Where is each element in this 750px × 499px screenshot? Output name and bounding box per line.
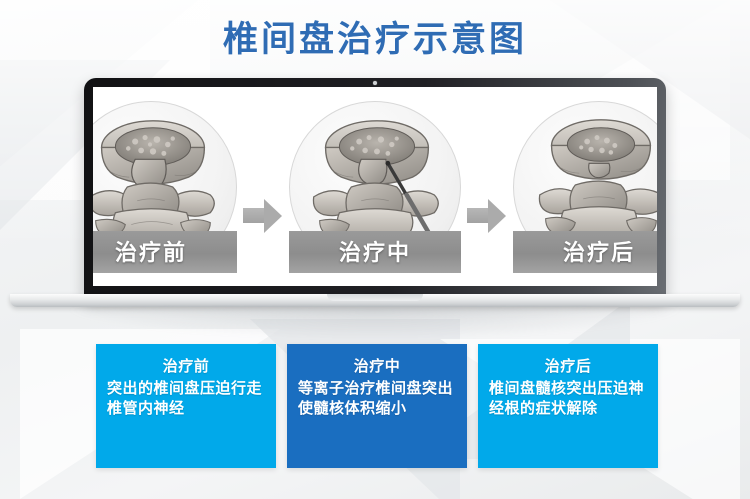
- info-card-title: 治疗后: [489, 357, 647, 377]
- page-title: 椎间盘治疗示意图: [0, 11, 750, 62]
- stage-label: 治疗前: [93, 231, 237, 273]
- laptop-shadow: [70, 308, 680, 338]
- info-card-during[interactable]: 治疗中 等离子治疗椎间盘突出使髓核体积缩小: [287, 344, 467, 468]
- poster-canvas: 椎间盘治疗示意图: [0, 0, 750, 499]
- info-card-before[interactable]: 治疗前 突出的椎间盘压迫行走椎管内神经: [96, 344, 276, 468]
- laptop-screen: 治疗前: [93, 87, 657, 286]
- stage-label: 治疗中: [289, 231, 461, 273]
- stage-item-before[interactable]: 治疗前: [93, 101, 237, 273]
- stage-label: 治疗后: [513, 231, 657, 273]
- info-card-title: 治疗中: [298, 357, 456, 377]
- info-card-title: 治疗前: [107, 357, 265, 377]
- right-arrow-icon: [243, 199, 283, 233]
- webcam-dot-icon: [373, 81, 377, 85]
- laptop-base-notch: [327, 294, 423, 301]
- info-card-body: 等离子治疗椎间盘突出使髓核体积缩小: [298, 379, 456, 419]
- laptop-mockup: 治疗前: [0, 78, 750, 313]
- stage-strip: 治疗前: [93, 87, 657, 286]
- info-card-body: 椎间盘髓核突出压迫神经根的症状解除: [489, 379, 647, 419]
- laptop-base: [10, 294, 740, 307]
- stage-item-during[interactable]: 治疗中: [289, 101, 461, 273]
- info-card-after[interactable]: 治疗后 椎间盘髓核突出压迫神经根的症状解除: [478, 344, 658, 468]
- info-card-row: 治疗前 突出的椎间盘压迫行走椎管内神经 治疗中 等离子治疗椎间盘突出使髓核体积缩…: [96, 344, 658, 468]
- info-card-body: 突出的椎间盘压迫行走椎管内神经: [107, 379, 265, 419]
- stage-item-after[interactable]: 治疗后: [513, 101, 657, 273]
- laptop-lid: 治疗前: [84, 78, 666, 298]
- right-arrow-icon: [467, 199, 507, 233]
